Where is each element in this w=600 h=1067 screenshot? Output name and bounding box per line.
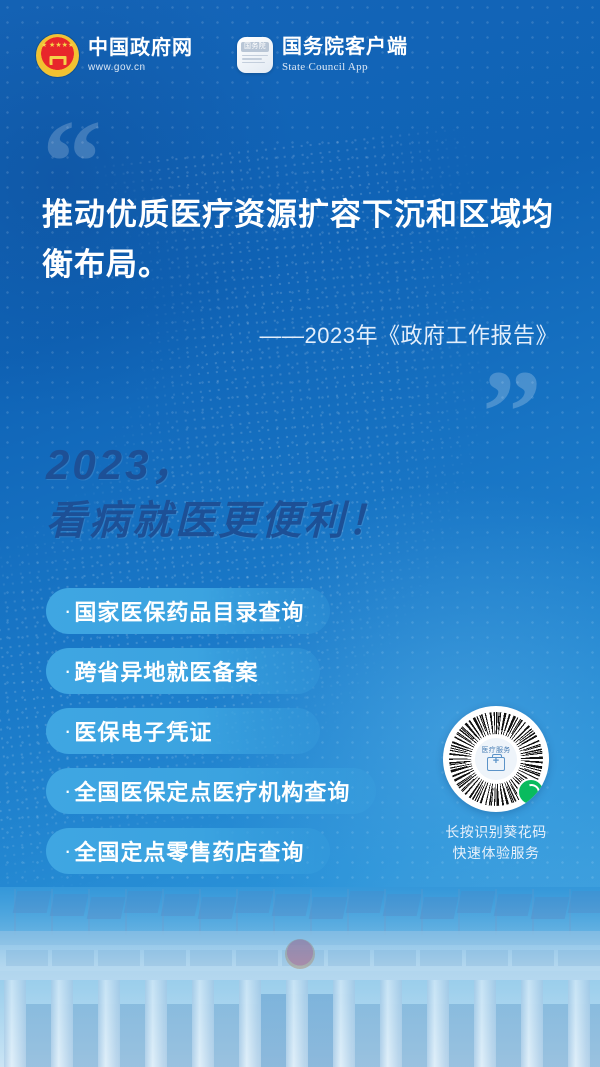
bullet-icon: · — [64, 720, 71, 742]
bullet-icon: · — [64, 660, 71, 682]
list-item-label: 国家医保药品目录查询 — [74, 595, 304, 627]
bullet-icon: · — [64, 780, 71, 802]
headline-line-1: 2023， — [46, 440, 390, 490]
emblem-gate — [49, 56, 66, 65]
qr-code-block[interactable]: 医疗服务 长按识别葵花码 快速体验服务 — [440, 706, 552, 864]
list-item-label: 全国医保定点医疗机构查询 — [74, 775, 350, 807]
state-council-name-cn: 国务院客户端 — [282, 37, 408, 58]
main-quote-text: 推动优质医疗资源扩容下沉和区域均衡布局。 — [42, 190, 562, 290]
list-item[interactable]: · 全国医保定点医疗机构查询 — [46, 768, 376, 814]
state-council-app-icon: 国务院 — [237, 37, 273, 73]
gov-logo-name: 中国政府网 — [88, 38, 193, 59]
list-item-label: 医保电子凭证 — [74, 715, 212, 747]
gov-logo-text: 中国政府网 www.gov.cn — [88, 38, 193, 73]
state-council-logo-text: 国务院客户端 State Council App — [282, 37, 408, 73]
list-item[interactable]: · 医保电子凭证 — [46, 708, 320, 754]
app-icon-lines — [242, 55, 268, 65]
wechat-glyph — [519, 780, 542, 803]
national-emblem-icon: ★ ★★★★ — [36, 34, 79, 77]
list-item[interactable]: · 跨省异地就医备案 — [46, 648, 320, 694]
qr-caption: 长按识别葵花码 快速体验服务 — [440, 822, 552, 864]
headline-line-2: 看病就医更便利！ — [46, 496, 390, 546]
gov-logo-url: www.gov.cn — [88, 62, 193, 73]
wechat-miniprogram-icon — [517, 778, 545, 806]
emblem-stars: ★ ★★★★ — [38, 42, 77, 49]
header-bar: ★ ★★★★ 中国政府网 www.gov.cn 国务院 国务院客户端 State… — [0, 0, 600, 110]
list-item[interactable]: · 全国定点零售药店查询 — [46, 828, 330, 874]
list-item[interactable]: · 国家医保药品目录查询 — [46, 588, 330, 634]
list-item-label: 全国定点零售药店查询 — [74, 835, 304, 867]
state-council-app-logo[interactable]: 国务院 国务院客户端 State Council App — [237, 37, 408, 73]
service-list: · 国家医保药品目录查询 · 跨省异地就医备案 · 医保电子凭证 · 全国医保定… — [46, 588, 376, 888]
great-hall-illustration — [0, 887, 600, 1067]
qr-caption-line-2: 快速体验服务 — [440, 843, 552, 864]
state-council-name-en: State Council App — [282, 61, 408, 73]
poster-root: ★ ★★★★ 中国政府网 www.gov.cn 国务院 国务院客户端 State… — [0, 0, 600, 1067]
sunflower-qr-code-icon[interactable]: 医疗服务 — [443, 706, 549, 812]
list-item-label: 跨省异地就医备案 — [74, 655, 258, 687]
qr-center-logo: 医疗服务 — [475, 738, 517, 780]
bullet-icon: · — [64, 600, 71, 622]
gov-cn-logo[interactable]: ★ ★★★★ 中国政府网 www.gov.cn — [36, 34, 193, 77]
bullet-icon: · — [64, 840, 71, 862]
medical-kit-icon — [487, 757, 505, 771]
headline-block: 2023， 看病就医更便利！ — [46, 440, 390, 546]
building-blue-tint — [0, 887, 600, 1067]
qr-caption-line-1: 长按识别葵花码 — [440, 822, 552, 843]
app-icon-badge: 国务院 — [241, 42, 269, 52]
close-quote-mark-icon: ” — [482, 362, 542, 462]
